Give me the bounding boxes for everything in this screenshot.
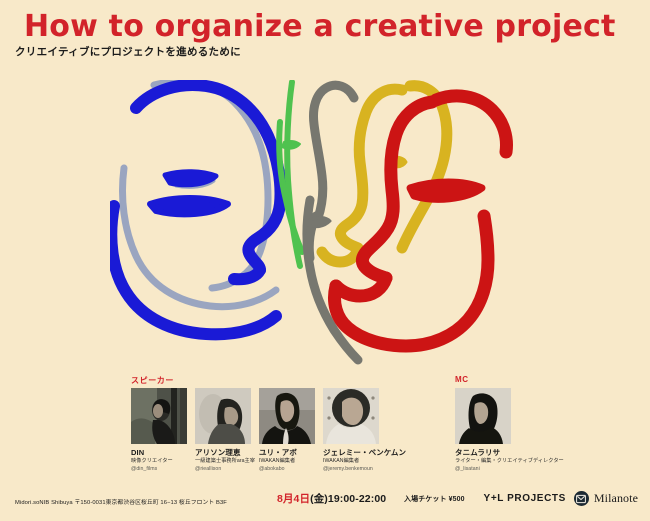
person-handle[interactable]: @rieallison <box>195 466 251 473</box>
person-role: IWAKAN編集者 <box>323 458 379 465</box>
logo-group: Y+L PROJECTS Milanote <box>484 491 638 506</box>
person-role: 映像クリエイター <box>131 458 187 465</box>
person-card: アリソン理恵 一級建築士事務所ara主宰 @rieallison <box>195 388 251 473</box>
speaker-section-label: スピーカー <box>131 375 174 386</box>
footer-bar: Midori.soNIB Shibuya 〒150-0031東京都渋谷区桜丘町 … <box>0 487 650 521</box>
person-handle[interactable]: @din_films <box>131 466 187 473</box>
person-role: IWAKAN編集者 <box>259 458 315 465</box>
avatar <box>259 388 315 444</box>
event-date: 8月4日 <box>277 493 310 505</box>
avatar <box>131 388 187 444</box>
person-card: ユリ・アボ IWAKAN編集者 @abokabo <box>259 388 315 473</box>
partner-logo-yl-projects[interactable]: Y+L PROJECTS <box>484 493 566 504</box>
milanote-wordmark: Milanote <box>594 491 638 506</box>
person-card: DIN 映像クリエイター @din_films <box>131 388 187 473</box>
person-handle[interactable]: @abokabo <box>259 466 315 473</box>
event-day: (金) <box>310 493 328 505</box>
ticket-price: 入場チケット ¥500 <box>404 494 465 504</box>
avatar <box>455 388 511 444</box>
page-title: How to organize a creative project <box>24 10 616 44</box>
event-datetime: 8月4日(金)19:00-22:00 <box>277 491 386 506</box>
avatar <box>323 388 379 444</box>
brand-logo-milanote[interactable]: Milanote <box>574 491 638 506</box>
person-role: 一級建築士事務所ara主宰 <box>195 458 251 465</box>
milanote-mark-icon <box>574 491 589 506</box>
partner-logo-text: Y+L PROJECTS <box>484 493 566 504</box>
mc-section-label: MC <box>455 375 469 384</box>
person-name: タニムラリサ <box>455 448 511 457</box>
page-subtitle: クリエイティブにプロジェクトを進めるために <box>15 45 241 59</box>
person-role: ライター・編集・クリエイティブディレクター <box>455 458 511 465</box>
event-time: 19:00-22:00 <box>328 493 386 505</box>
person-handle[interactable]: @jeremy.benkemoun <box>323 466 379 473</box>
person-name: アリソン理恵 <box>195 448 251 457</box>
poster-canvas: How to organize a creative project クリエイテ… <box>0 0 650 521</box>
people-list: DIN 映像クリエイター @din_films アリソン理恵 一級建築士事務所a… <box>131 388 531 483</box>
person-card: タニムラリサ ライター・編集・クリエイティブディレクター @_lisatani <box>455 388 511 473</box>
venue-address: Midori.soNIB Shibuya 〒150-0031東京都渋谷区桜丘町 … <box>15 497 227 506</box>
person-name: ユリ・アボ <box>259 448 315 457</box>
person-handle[interactable]: @_lisatani <box>455 466 511 473</box>
avatar <box>195 388 251 444</box>
person-name: DIN <box>131 448 187 457</box>
artwork-illustration <box>110 80 540 365</box>
person-card: ジェレミー・ベンケムン IWAKAN編集者 @jeremy.benkemoun <box>323 388 379 473</box>
person-name: ジェレミー・ベンケムン <box>323 448 379 457</box>
